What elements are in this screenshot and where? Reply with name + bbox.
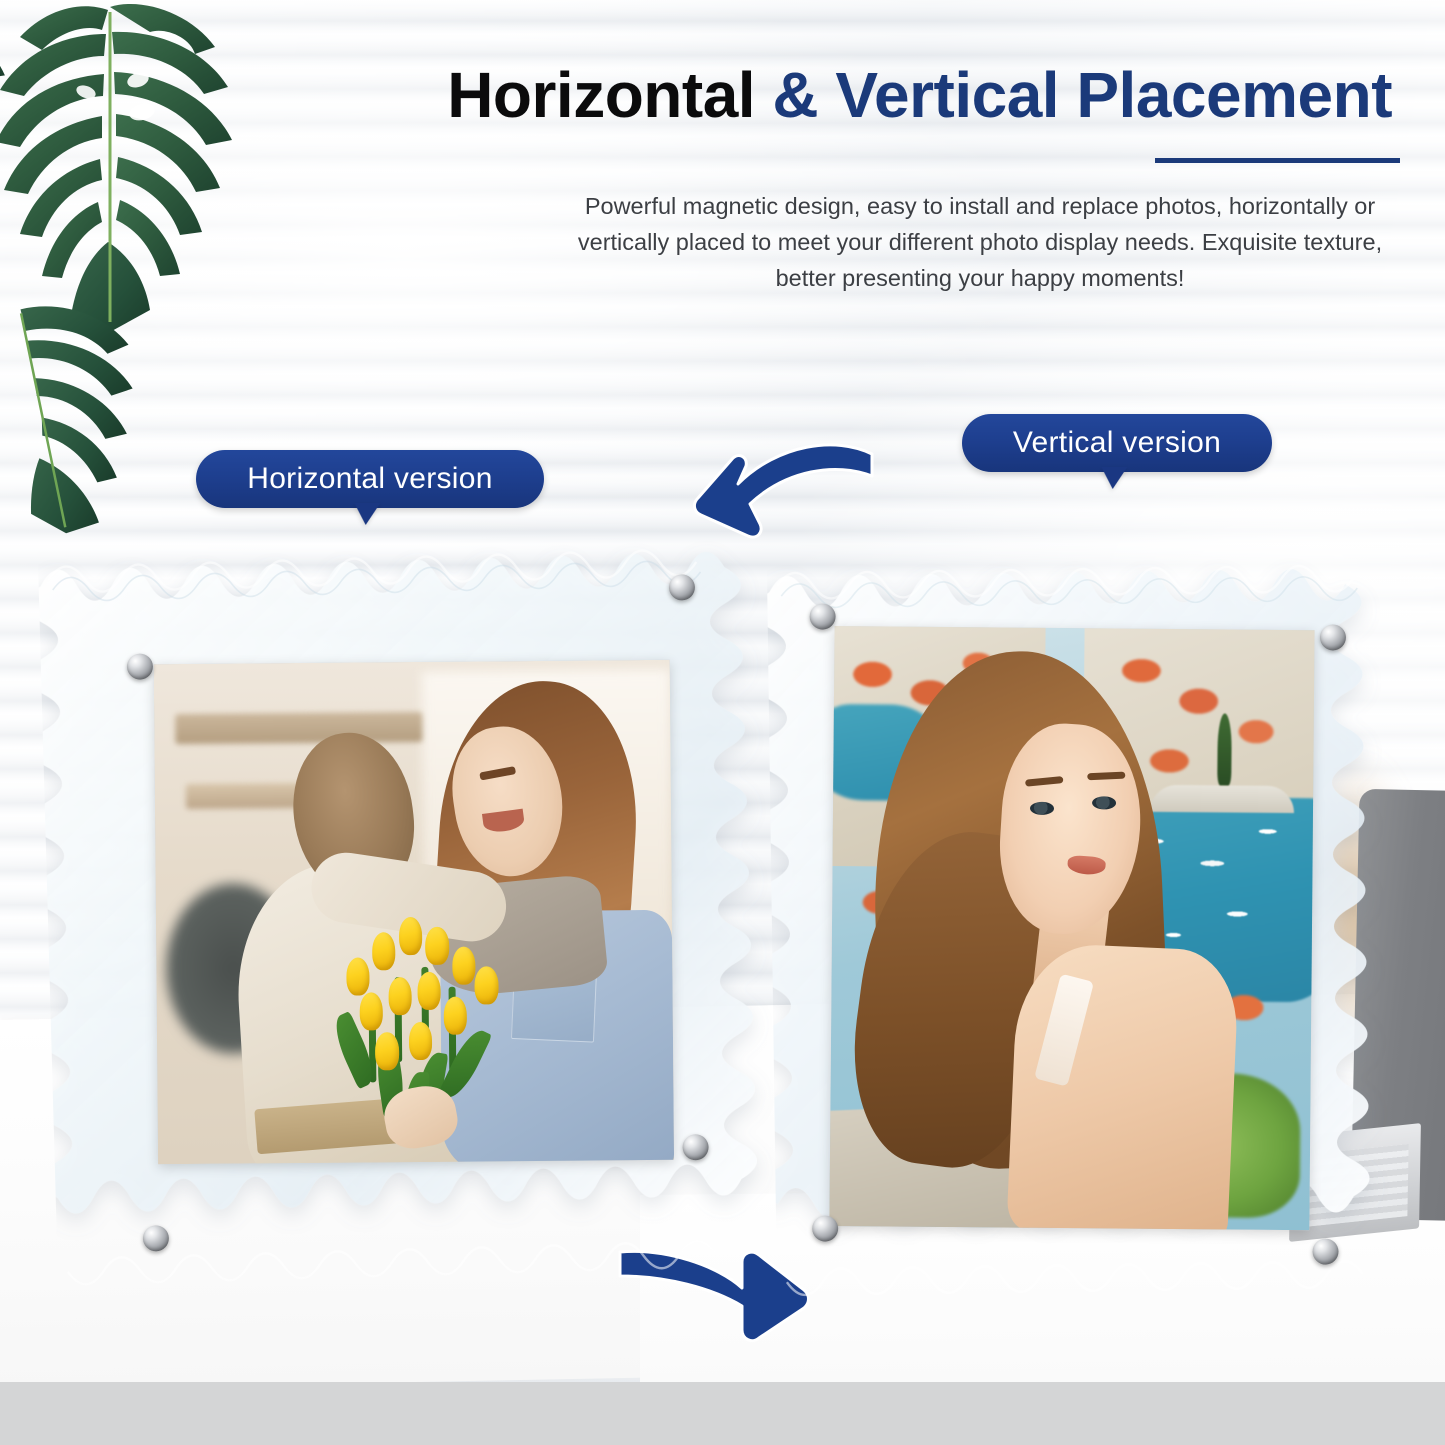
acrylic-photo-frame-horizontal[interactable] — [38, 530, 793, 1302]
product-marketing-image: Horizontal & Vertical Placement Powerful… — [0, 0, 1445, 1445]
badge-tail — [350, 503, 381, 525]
photo-vertical-scene — [829, 626, 1314, 1230]
photo-vertical — [829, 626, 1314, 1230]
bottom-gray-band — [0, 1382, 1445, 1445]
page-title-blue: & Vertical Placement — [772, 59, 1392, 131]
badge-horizontal-version: Horizontal version — [196, 450, 544, 508]
acrylic-photo-frame-vertical[interactable] — [767, 548, 1395, 1313]
page-subtitle: Powerful magnetic design, easy to instal… — [555, 188, 1405, 296]
badge-vertical-label: Vertical version — [1013, 426, 1221, 460]
badge-horizontal-label: Horizontal version — [247, 462, 493, 496]
badge-vertical-version: Vertical version — [962, 414, 1272, 472]
photo-horizontal — [154, 660, 674, 1164]
badge-tail — [1097, 467, 1128, 489]
page-title: Horizontal & Vertical Placement — [0, 58, 1430, 132]
page-title-black: Horizontal — [447, 59, 772, 131]
title-underline-rule — [1155, 158, 1400, 163]
photo-horizontal-scene — [154, 660, 674, 1164]
